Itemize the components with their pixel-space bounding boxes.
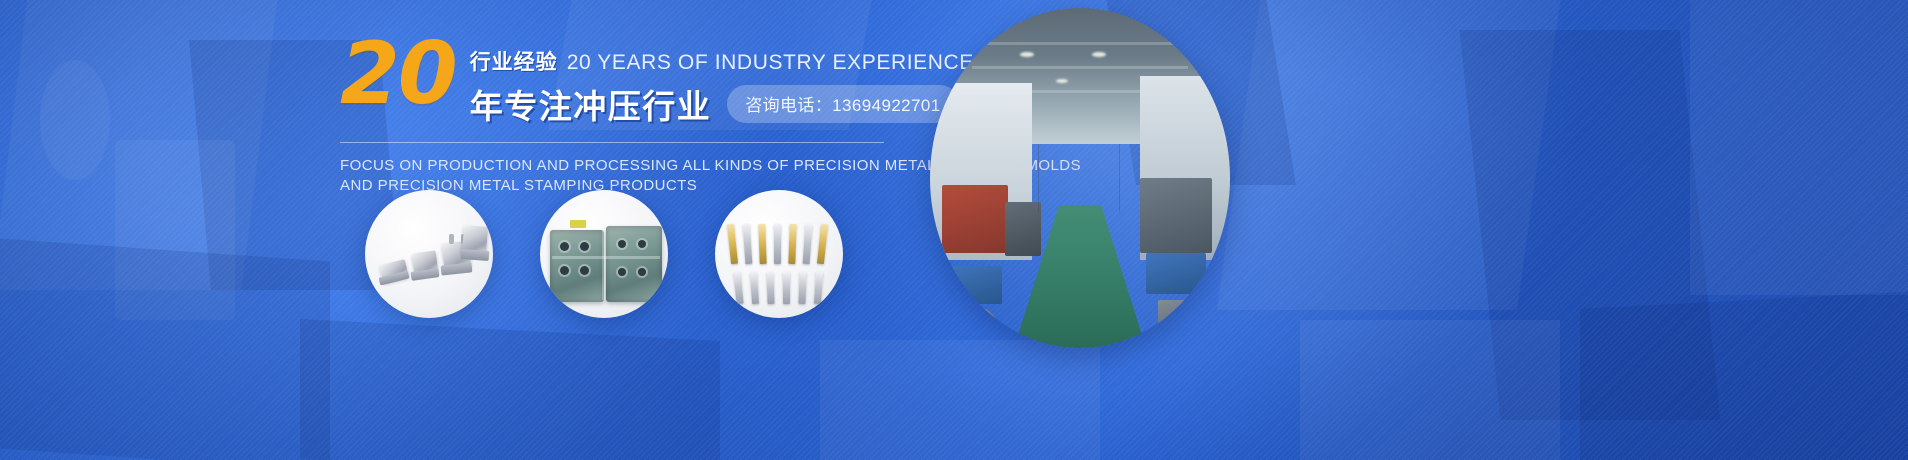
headline-block: 20 行业经验 20 YEARS OF INDUSTRY EXPERIENCE … [340, 40, 900, 196]
mold-rib [602, 228, 605, 300]
product-circle-mold[interactable] [540, 190, 668, 318]
pin-terminal [798, 272, 806, 304]
mold-hole [580, 242, 589, 251]
years-number: 20 [340, 38, 456, 112]
bg-shape [40, 60, 110, 180]
headline-row: 20 行业经验 20 YEARS OF INDUSTRY EXPERIENCE … [340, 40, 900, 128]
pin-terminal [750, 272, 759, 304]
product-circle-pins[interactable] [715, 190, 843, 318]
pin-terminal [803, 224, 813, 264]
mold-hole [618, 268, 626, 276]
product-circle-connectors[interactable] [365, 190, 493, 318]
pin-terminal [817, 224, 828, 265]
pin-terminal [774, 224, 781, 264]
pin-terminal [733, 272, 743, 305]
mold-hole [560, 242, 569, 251]
connector-pin [449, 234, 454, 244]
mold-hole [560, 266, 569, 275]
phone-pill[interactable]: 咨询电话：13694922701 [727, 85, 958, 123]
description-line-1: FOCUS ON PRODUCTION AND PROCESSING ALL K… [340, 156, 900, 176]
headline-line-top: 行业经验 20 YEARS OF INDUSTRY EXPERIENCE [470, 46, 974, 76]
factory-photo-glow [930, 8, 1230, 348]
promo-banner: 20 行业经验 20 YEARS OF INDUSTRY EXPERIENCE … [0, 0, 1908, 460]
mold-half-left [550, 230, 604, 302]
mold-hole [580, 266, 589, 275]
headline-cn-big: 年专注冲压行业 [470, 80, 712, 128]
bg-shape [1580, 291, 1908, 460]
headline-cn-small: 行业经验 [470, 46, 558, 76]
pin-terminal [766, 272, 774, 304]
connector-part [461, 249, 490, 261]
headline-en: 20 YEARS OF INDUSTRY EXPERIENCE [567, 51, 974, 75]
headline-text: 行业经验 20 YEARS OF INDUSTRY EXPERIENCE 年专注… [470, 40, 974, 128]
mold-yellow-tag [570, 220, 586, 228]
mold-half-right [606, 226, 662, 302]
bg-shape [1690, 0, 1908, 295]
bg-shape [1300, 320, 1560, 460]
headline-line-bottom: 年专注冲压行业 咨询电话：13694922701 [470, 80, 974, 128]
mold-hole [618, 240, 626, 248]
divider [340, 142, 884, 143]
pin-terminal [727, 224, 738, 265]
mold-rib [552, 256, 660, 259]
pin-terminal [783, 272, 790, 304]
mold-hole [638, 240, 646, 248]
pin-terminal [743, 224, 753, 264]
connector-part [441, 262, 473, 275]
bg-shape [820, 340, 1100, 460]
pin-terminal [788, 224, 796, 264]
bg-shape [300, 319, 720, 460]
bg-shape [0, 238, 330, 460]
pin-terminal [758, 224, 766, 264]
factory-workshop-photo[interactable] [930, 8, 1230, 348]
pin-terminal [814, 272, 823, 304]
mold-hole [638, 268, 646, 276]
